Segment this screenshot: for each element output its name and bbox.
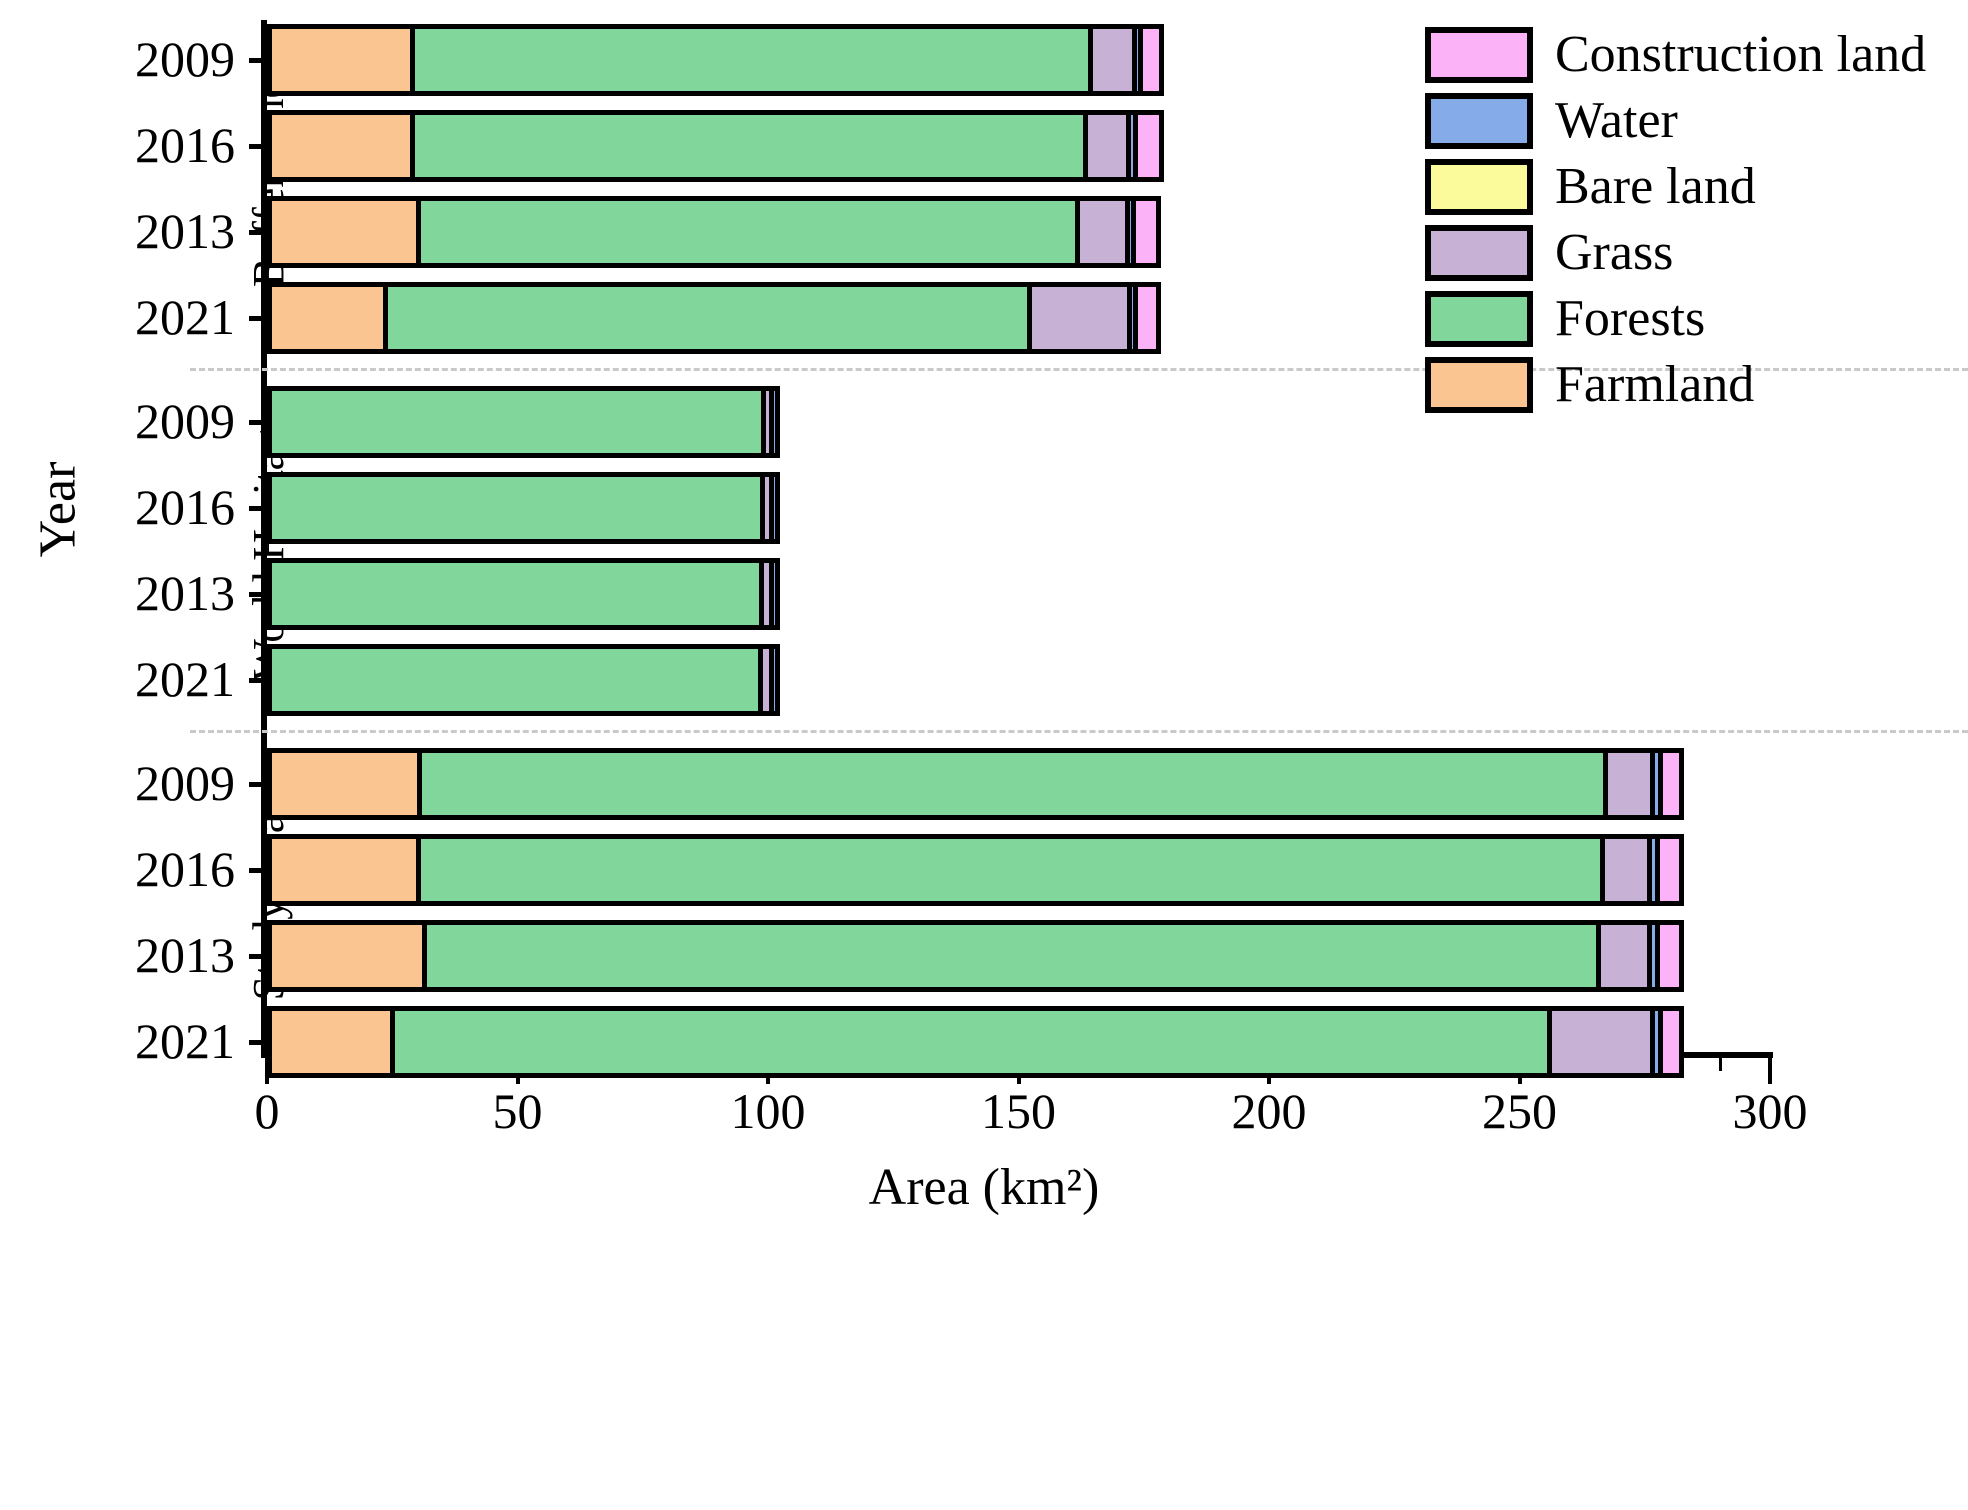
legend-item[interactable]: Bare land <box>1425 157 1926 217</box>
bar-segment-construction-land <box>1131 201 1156 263</box>
bar-segment-water <box>1126 115 1133 177</box>
x-tick-label: 300 <box>1700 1086 1840 1136</box>
bar-segment-forests <box>272 477 760 539</box>
group-separator <box>190 730 1968 733</box>
stacked-bar <box>267 110 1164 182</box>
bar-segment-grass <box>758 649 768 711</box>
y-tick-label-year: 2009 <box>60 758 235 808</box>
bar-segment-farmland <box>272 839 416 901</box>
stacked-bar <box>267 920 1684 992</box>
bar-segment-forests <box>410 29 1088 91</box>
legend-swatch-construction-land <box>1425 27 1533 83</box>
stacked-bar <box>267 24 1164 96</box>
y-tick-label-year: 2009 <box>60 34 235 84</box>
y-tick-label-year: 2021 <box>60 1016 235 1066</box>
legend-label: Farmland <box>1555 359 1754 411</box>
bar-segment-grass <box>1027 287 1126 349</box>
bar-segment-water <box>1647 925 1655 987</box>
legend-swatch-grass <box>1425 225 1533 281</box>
y-tick-label-year: 2016 <box>60 844 235 894</box>
stacked-bar <box>267 1006 1684 1078</box>
bar-segment-water <box>769 391 775 453</box>
bar-segment-farmland <box>272 925 422 987</box>
bar-segment-forests <box>272 563 759 625</box>
legend-item[interactable]: Forests <box>1425 289 1926 349</box>
x-tick-label: 0 <box>197 1086 337 1136</box>
bar-segment-construction-land <box>1655 925 1679 987</box>
bar-segment-farmland <box>272 29 410 91</box>
bar-segment-water <box>769 563 775 625</box>
bar-segment-forests <box>272 649 758 711</box>
bar-segment-forests <box>416 201 1075 263</box>
legend-swatch-bare-land <box>1425 159 1533 215</box>
bar-segment-water <box>1650 753 1658 815</box>
y-tick-label-year: 2016 <box>60 120 235 170</box>
y-tick-label-year: 2021 <box>60 654 235 704</box>
bar-segment-grass <box>1088 29 1132 91</box>
bar-segment-farmland <box>272 115 410 177</box>
bar-segment-grass <box>761 391 769 453</box>
stacked-bar <box>267 748 1684 820</box>
legend-label: Construction land <box>1555 29 1926 81</box>
bar-segment-grass <box>760 477 769 539</box>
bar-segment-grass <box>1547 1011 1650 1073</box>
bar-segment-forests <box>410 115 1083 177</box>
bar-segment-water <box>769 477 775 539</box>
bar-segment-water <box>769 649 775 711</box>
bar-segment-farmland <box>272 1011 390 1073</box>
chart-legend: Construction landWaterBare landGrassFore… <box>1425 25 1926 421</box>
bar-segment-forests <box>383 287 1027 349</box>
stacked-bar <box>267 834 1684 906</box>
x-axis-title: Area (km²) <box>0 1158 1968 1217</box>
y-tick-label-year: 2013 <box>60 206 235 256</box>
stacked-bar <box>267 472 780 544</box>
legend-swatch-farmland <box>1425 357 1533 413</box>
bar-segment-grass <box>1600 839 1647 901</box>
stacked-bar <box>267 558 780 630</box>
x-tick-label: 200 <box>1199 1086 1339 1136</box>
bar-segment-construction-land <box>1658 1011 1679 1073</box>
stacked-bar <box>267 282 1161 354</box>
legend-item[interactable]: Grass <box>1425 223 1926 283</box>
x-tick-label: 100 <box>698 1086 838 1136</box>
x-tick-major <box>1768 1058 1772 1084</box>
legend-label: Bare land <box>1555 161 1756 213</box>
x-tick-label: 150 <box>949 1086 1089 1136</box>
x-tick-minor <box>1719 1058 1722 1071</box>
bar-segment-construction-land <box>1655 839 1679 901</box>
y-axis-title: Year <box>29 390 88 630</box>
bar-segment-grass <box>1083 115 1126 177</box>
bar-segment-water <box>1650 1011 1657 1073</box>
bar-segment-grass <box>1075 201 1125 263</box>
x-tick-label: 50 <box>448 1086 588 1136</box>
bar-segment-farmland <box>272 753 417 815</box>
bar-segment-forests <box>272 391 761 453</box>
bar-segment-grass <box>1596 925 1647 987</box>
bar-segment-forests <box>416 839 1600 901</box>
legend-label: Forests <box>1555 293 1705 345</box>
legend-label: Water <box>1555 95 1678 147</box>
bar-segment-grass <box>1603 753 1650 815</box>
legend-item[interactable]: Construction land <box>1425 25 1926 85</box>
bar-segment-forests <box>422 925 1597 987</box>
bar-segment-construction-land <box>1138 29 1159 91</box>
legend-swatch-forests <box>1425 291 1533 347</box>
bar-segment-water <box>1647 839 1655 901</box>
y-tick-label-year: 2013 <box>60 930 235 980</box>
legend-item[interactable]: Water <box>1425 91 1926 151</box>
x-tick-label: 250 <box>1450 1086 1590 1136</box>
bar-segment-grass <box>759 563 768 625</box>
chart-root: 050100150200250300 200920162013202120092… <box>0 0 1968 1510</box>
bar-segment-farmland <box>272 201 416 263</box>
bar-segment-forests <box>417 753 1604 815</box>
bar-segment-construction-land <box>1133 287 1156 349</box>
bar-segment-forests <box>390 1011 1547 1073</box>
bar-segment-construction-land <box>1658 753 1679 815</box>
bar-segment-farmland <box>272 287 383 349</box>
stacked-bar <box>267 644 780 716</box>
legend-label: Grass <box>1555 227 1673 279</box>
stacked-bar <box>267 386 780 458</box>
stacked-bar <box>267 196 1161 268</box>
legend-swatch-water <box>1425 93 1533 149</box>
y-tick-label-year: 2021 <box>60 292 235 342</box>
bar-segment-construction-land <box>1133 115 1158 177</box>
legend-item[interactable]: Farmland <box>1425 355 1926 415</box>
